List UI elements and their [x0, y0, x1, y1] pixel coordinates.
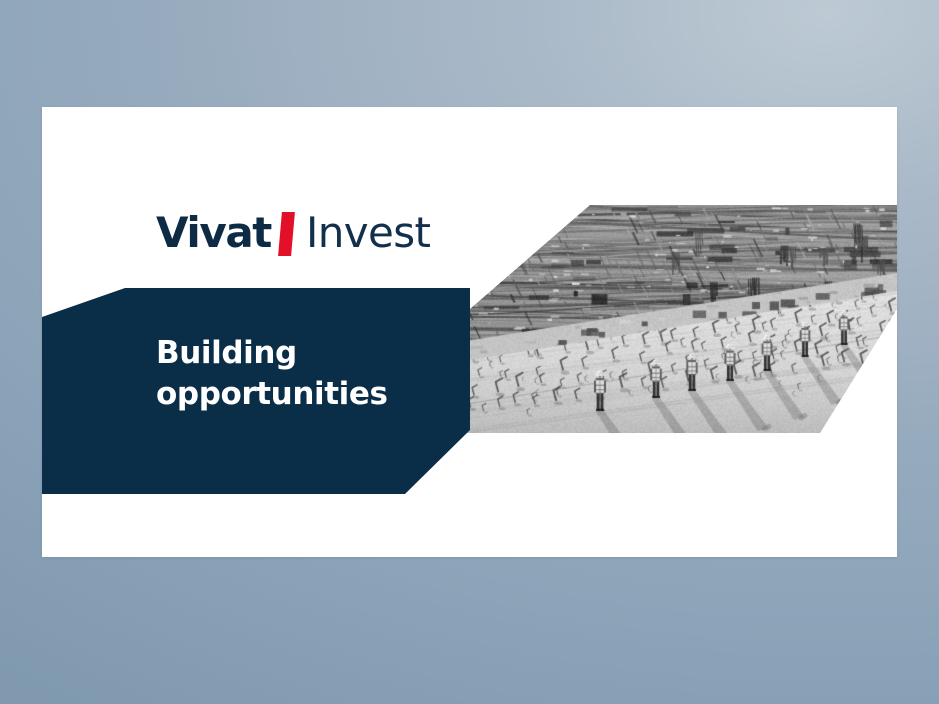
brand-logo: Vivat Invest	[156, 207, 430, 259]
red-bookmark-mark-icon	[278, 212, 295, 256]
presentation-slide: Vivat Invest Building opportunities	[42, 107, 897, 557]
headline-banner: Building opportunities	[42, 288, 470, 494]
slide-headline-line-2: opportunities	[156, 374, 388, 415]
construction-site-photo-canvas	[440, 205, 897, 433]
logo-word-invest: Invest	[306, 212, 430, 254]
logo-word-vivat: Vivat	[156, 212, 271, 254]
slide-headline-line-1: Building	[156, 333, 388, 374]
slide-headline: Building opportunities	[156, 333, 388, 415]
construction-site-photo	[440, 205, 897, 433]
